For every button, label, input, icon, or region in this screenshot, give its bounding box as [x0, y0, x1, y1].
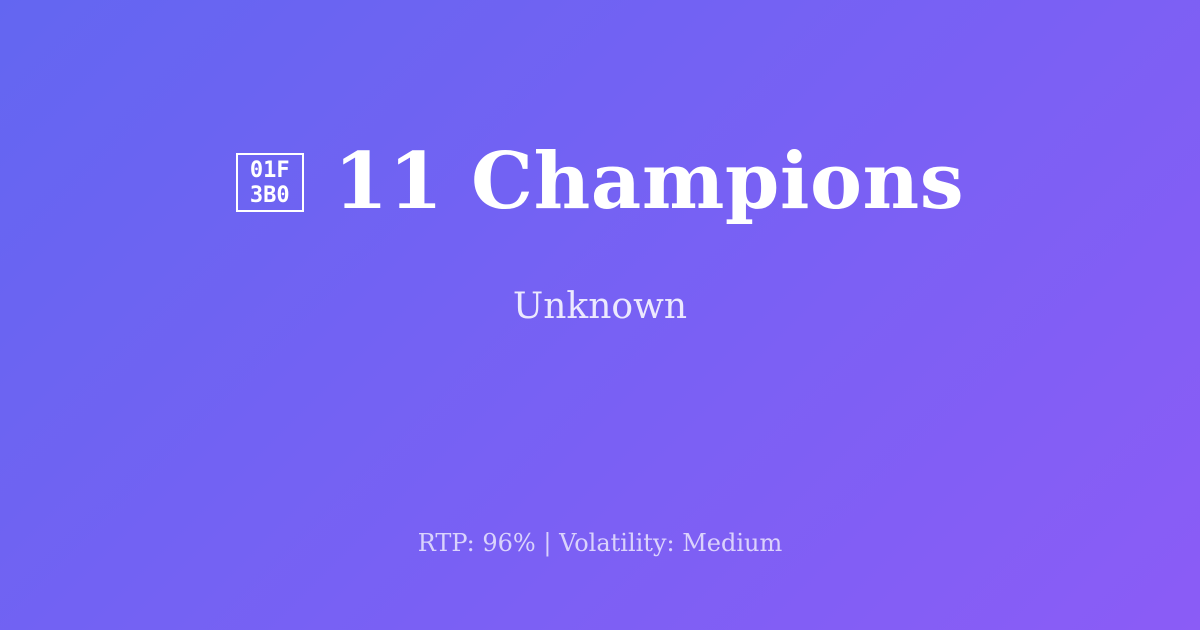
- game-provider: Unknown: [513, 285, 687, 328]
- title-row: 01F 3B0 11 Champions: [0, 141, 1200, 223]
- game-title: 11 Champions: [334, 141, 964, 223]
- game-preview-card: 01F 3B0 11 Champions Unknown RTP: 96% | …: [0, 0, 1200, 630]
- tofu-hex-upper: 01F: [250, 158, 290, 183]
- game-stats-line: RTP: 96% | Volatility: Medium: [0, 528, 1200, 559]
- hero-block: 01F 3B0 11 Champions Unknown: [0, 0, 1200, 470]
- tofu-hex-lower: 3B0: [250, 183, 290, 208]
- slot-machine-icon: 01F 3B0: [236, 153, 304, 212]
